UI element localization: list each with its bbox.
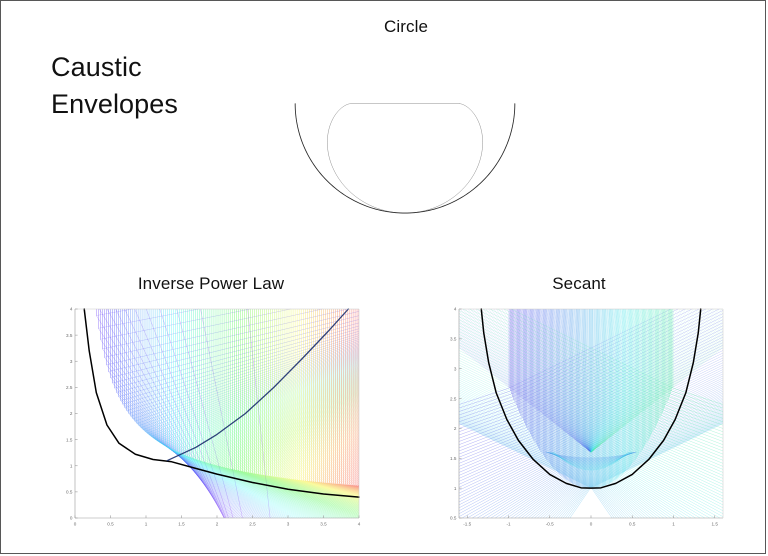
- svg-text:1: 1: [70, 463, 73, 468]
- svg-text:2.5: 2.5: [66, 385, 73, 390]
- svg-text:0.5: 0.5: [107, 521, 114, 526]
- svg-text:2: 2: [454, 426, 457, 431]
- svg-text:1.5: 1.5: [450, 456, 457, 461]
- svg-text:1.5: 1.5: [712, 521, 719, 526]
- svg-text:1.5: 1.5: [66, 437, 73, 442]
- page-title: Caustic Envelopes: [51, 49, 241, 124]
- svg-text:3.5: 3.5: [66, 333, 73, 338]
- svg-text:3.5: 3.5: [320, 521, 327, 526]
- svg-text:1: 1: [672, 521, 675, 526]
- svg-text:0.5: 0.5: [629, 521, 636, 526]
- svg-text:2: 2: [70, 411, 73, 416]
- secant-figure: -1.5-1-0.500.511.50.511.522.533.54: [437, 304, 727, 534]
- panel-title-secant: Secant: [479, 274, 679, 294]
- svg-text:-0.5: -0.5: [546, 521, 554, 526]
- svg-text:1.5: 1.5: [178, 521, 185, 526]
- inverse-power-law-figure: 00.511.522.533.5400.511.522.533.54: [53, 304, 363, 534]
- svg-text:-1: -1: [506, 521, 511, 526]
- svg-text:0: 0: [74, 521, 77, 526]
- plot-inverse-power-law: 00.511.522.533.5400.511.522.533.54: [53, 304, 363, 534]
- svg-text:0.5: 0.5: [66, 490, 73, 495]
- svg-text:4: 4: [70, 307, 73, 312]
- svg-text:4: 4: [358, 521, 361, 526]
- svg-text:3: 3: [70, 359, 73, 364]
- panel-title-inverse-power-law: Inverse Power Law: [111, 274, 311, 294]
- svg-text:1: 1: [454, 486, 457, 491]
- svg-text:2: 2: [216, 521, 219, 526]
- svg-text:2.5: 2.5: [249, 521, 256, 526]
- page-title-line-1: Caustic: [51, 49, 241, 86]
- svg-text:4: 4: [454, 307, 457, 312]
- svg-text:3: 3: [287, 521, 290, 526]
- svg-text:1: 1: [145, 521, 148, 526]
- slide-canvas: Caustic Envelopes Circle Inverse Power L…: [0, 0, 766, 554]
- svg-text:0.5: 0.5: [450, 516, 457, 521]
- plot-secant: -1.5-1-0.500.511.50.511.522.533.54: [437, 304, 727, 534]
- svg-text:0: 0: [590, 521, 593, 526]
- svg-text:3: 3: [454, 366, 457, 371]
- panel-title-circle: Circle: [306, 17, 506, 37]
- plot-circle: [271, 60, 539, 224]
- svg-text:0: 0: [70, 516, 73, 521]
- svg-text:2.5: 2.5: [450, 396, 457, 401]
- svg-text:-1.5: -1.5: [463, 521, 471, 526]
- circle-caustic-figure: [271, 60, 539, 224]
- svg-text:3.5: 3.5: [450, 337, 457, 342]
- page-title-line-2: Envelopes: [51, 86, 241, 123]
